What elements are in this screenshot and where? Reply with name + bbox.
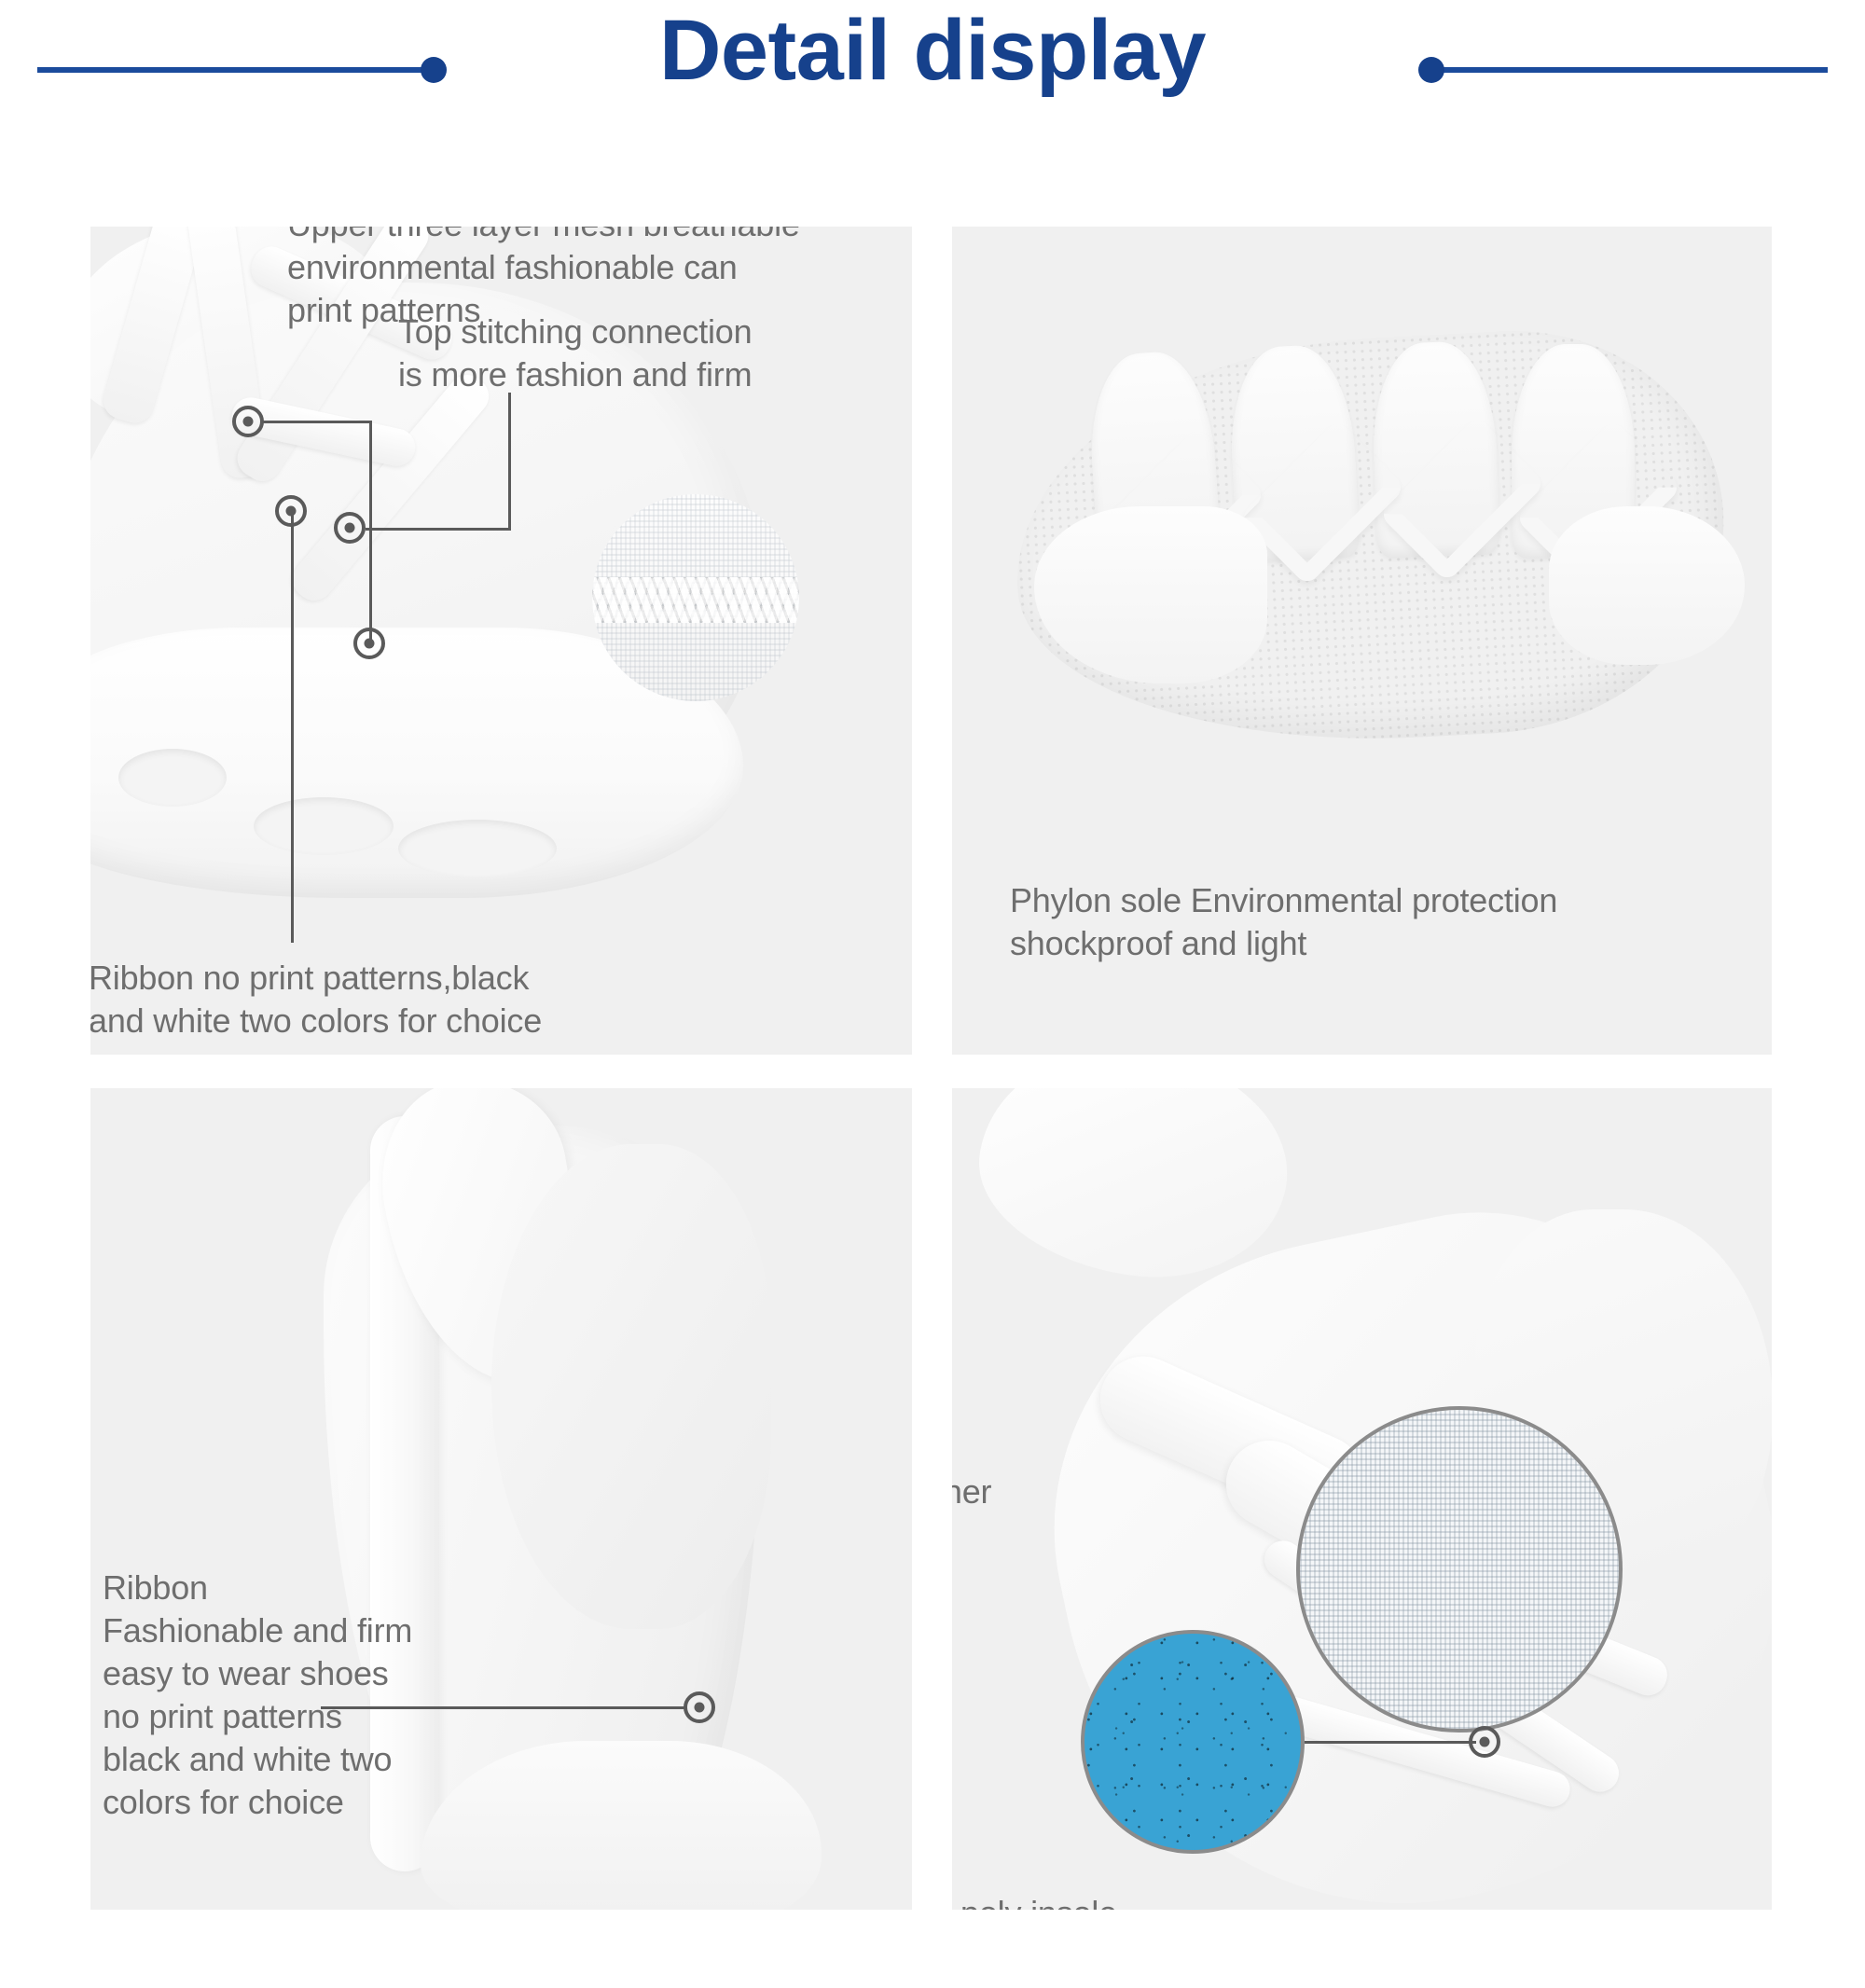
other-side-caption: the other side: [952, 1470, 1140, 1556]
leader-line-upper-mesh: [263, 421, 372, 423]
detail-display-page: Detail display: [0, 0, 1865, 1988]
leader-line-ribbon: [291, 511, 294, 943]
leader-line-top-stitching: [508, 393, 511, 531]
page-header: Detail display: [0, 0, 1865, 186]
phylon-sole-caption: Phylon sole Environmental protection sho…: [1010, 879, 1765, 965]
detail-panel-grid: Upper three layer mesh breathable enviro…: [90, 227, 1772, 1910]
ribbon-heel-caption: Ribbon Fashionable and firm easy to wear…: [103, 1567, 522, 1824]
top-stitching-caption: Top stitching connection is more fashion…: [398, 311, 855, 396]
page-title: Detail display: [0, 7, 1865, 93]
inset-foam-speckle-texture: [1084, 1634, 1301, 1850]
high-poly-insole-caption: High poly insole Breathable Deodorant: [952, 1892, 1284, 1910]
midsole-pod: [398, 820, 557, 877]
panel-upper-mesh: Upper three layer mesh breathable enviro…: [90, 227, 912, 1055]
leader-line-upper-mesh: [369, 421, 372, 643]
ribbon-colors-caption: Ribbon no print patterns,black and white…: [90, 957, 667, 1042]
panel-ribbon-heel: Ribbon Fashionable and firm easy to wear…: [90, 1088, 912, 1910]
leader-line-top-stitching: [366, 528, 511, 531]
panel-insole: the other side High poly insole Breathab…: [952, 1088, 1772, 1910]
inset-mesh-texture: [1300, 1410, 1619, 1729]
callout-marker-ribbon-heel[interactable]: [684, 1691, 715, 1723]
inset-stitch-band: [592, 577, 799, 623]
callout-marker-mesh-layers[interactable]: [353, 628, 385, 659]
stitching-closeup-inset: [592, 494, 799, 701]
callout-marker-ribbon[interactable]: [275, 495, 307, 527]
leader-line-insole: [1305, 1741, 1476, 1744]
heel-mesh-panel: [491, 1144, 771, 1629]
callout-marker-upper-mesh[interactable]: [232, 406, 264, 437]
header-rule-right: [1431, 67, 1828, 73]
blue-insole-closeup-inset: [1081, 1630, 1305, 1854]
outsole-forefoot-pad: [1549, 506, 1745, 665]
mesh-fabric-closeup-inset: [1296, 1406, 1623, 1733]
callout-marker-insole[interactable]: [1469, 1726, 1500, 1758]
midsole-pod: [118, 749, 227, 807]
midsole-pod: [254, 797, 394, 855]
callout-marker-top-stitching[interactable]: [334, 512, 366, 544]
header-dot-right: [1418, 57, 1444, 83]
panel-phylon-sole: Phylon sole Environmental protection sho…: [952, 227, 1772, 1055]
